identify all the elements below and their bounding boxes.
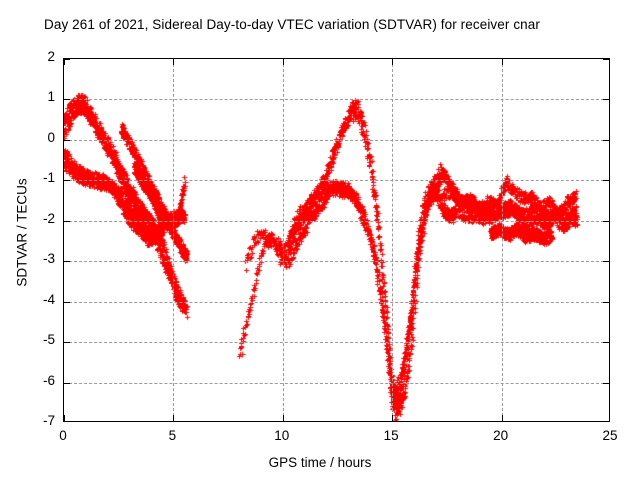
page-title: Day 261 of 2021, Sidereal Day-to-day VTE… bbox=[44, 17, 540, 32]
x-axis-tick-label: 25 bbox=[590, 428, 630, 443]
gridline-horizontal bbox=[64, 140, 609, 141]
gridline-horizontal bbox=[64, 180, 609, 181]
y-axis-tick-label: -1 bbox=[15, 170, 55, 185]
x-axis-tick bbox=[173, 415, 174, 421]
y-axis-tick-label: 0 bbox=[15, 130, 55, 145]
gridline-horizontal bbox=[64, 99, 609, 100]
y-axis-tick bbox=[603, 59, 609, 60]
y-axis-tick bbox=[603, 383, 609, 384]
x-axis-tick bbox=[64, 59, 65, 65]
gridline-vertical bbox=[173, 59, 174, 421]
y-axis-tick-label: -6 bbox=[15, 373, 55, 388]
gridline-horizontal bbox=[64, 221, 609, 222]
gridline-horizontal bbox=[64, 383, 609, 384]
y-axis-tick bbox=[603, 221, 609, 222]
scatter-series-canvas bbox=[64, 59, 610, 422]
y-axis-tick bbox=[603, 140, 609, 141]
y-axis-tick bbox=[64, 342, 70, 343]
gridline-horizontal bbox=[64, 261, 609, 262]
gridline-horizontal bbox=[64, 342, 609, 343]
y-axis-tick bbox=[603, 99, 609, 100]
y-axis-tick bbox=[64, 140, 70, 141]
gridline-vertical bbox=[392, 59, 393, 421]
x-axis-tick bbox=[392, 415, 393, 421]
plot-area bbox=[63, 58, 610, 422]
y-axis-tick bbox=[64, 221, 70, 222]
y-axis-tick-label: 1 bbox=[15, 89, 55, 104]
y-axis-tick-label: -4 bbox=[15, 292, 55, 307]
y-axis-tick bbox=[603, 261, 609, 262]
x-axis-tick-label: 5 bbox=[152, 428, 192, 443]
y-axis-tick bbox=[603, 342, 609, 343]
x-axis-tick bbox=[283, 415, 284, 421]
x-axis-tick bbox=[173, 59, 174, 65]
x-axis-tick bbox=[502, 59, 503, 65]
gridline-vertical bbox=[283, 59, 284, 421]
x-axis-tick bbox=[392, 59, 393, 65]
x-axis-title: GPS time / hours bbox=[0, 455, 640, 470]
gridline-horizontal bbox=[64, 302, 609, 303]
x-axis-tick-label: 20 bbox=[481, 428, 521, 443]
x-axis-tick-label: 0 bbox=[43, 428, 83, 443]
x-axis-tick bbox=[502, 415, 503, 421]
y-axis-tick bbox=[64, 99, 70, 100]
y-axis-tick bbox=[64, 302, 70, 303]
y-axis-tick-label: -5 bbox=[15, 332, 55, 347]
x-axis-tick bbox=[64, 415, 65, 421]
chart-root: Day 261 of 2021, Sidereal Day-to-day VTE… bbox=[0, 0, 640, 480]
y-axis-tick-label: -7 bbox=[15, 413, 55, 428]
y-axis-tick-label: -3 bbox=[15, 251, 55, 266]
y-axis-tick bbox=[64, 383, 70, 384]
gridline-vertical bbox=[502, 59, 503, 421]
y-axis-tick bbox=[603, 302, 609, 303]
y-axis-tick-label: -2 bbox=[15, 211, 55, 226]
x-axis-tick-label: 10 bbox=[262, 428, 302, 443]
x-axis-tick bbox=[283, 59, 284, 65]
y-axis-tick bbox=[64, 180, 70, 181]
x-axis-tick-label: 15 bbox=[371, 428, 411, 443]
y-axis-tick bbox=[64, 261, 70, 262]
y-axis-tick-label: 2 bbox=[15, 49, 55, 64]
y-axis-tick bbox=[603, 180, 609, 181]
